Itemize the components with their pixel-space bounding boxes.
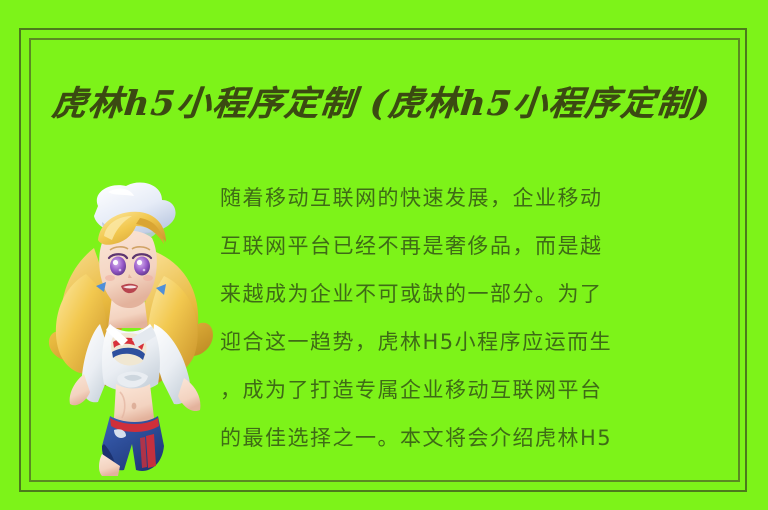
page-title: 虎林h5小程序定制 (虎林h5小程序定制) — [50, 81, 715, 127]
page-root: 虎林h5小程序定制 (虎林h5小程序定制) — [0, 0, 768, 510]
article-line: ，成为了打造专属企业移动互联网平台 — [220, 366, 734, 414]
anime-girl-chef-hat-illustration — [36, 178, 218, 476]
article-line: 的最佳选择之一。本文将会介绍虎林H5 — [220, 414, 734, 462]
article-line: 迎合这一趋势，虎林H5小程序应运而生 — [220, 318, 734, 366]
article-line: 来越成为企业不可或缺的一部分。为了 — [220, 270, 734, 318]
article-body: 随着移动互联网的快速发展，企业移动 互联网平台已经不再是奢侈品，而是越 来越成为… — [220, 174, 734, 462]
article-line: 随着移动互联网的快速发展，企业移动 — [220, 174, 734, 222]
article-line: 互联网平台已经不再是奢侈品，而是越 — [220, 222, 734, 270]
